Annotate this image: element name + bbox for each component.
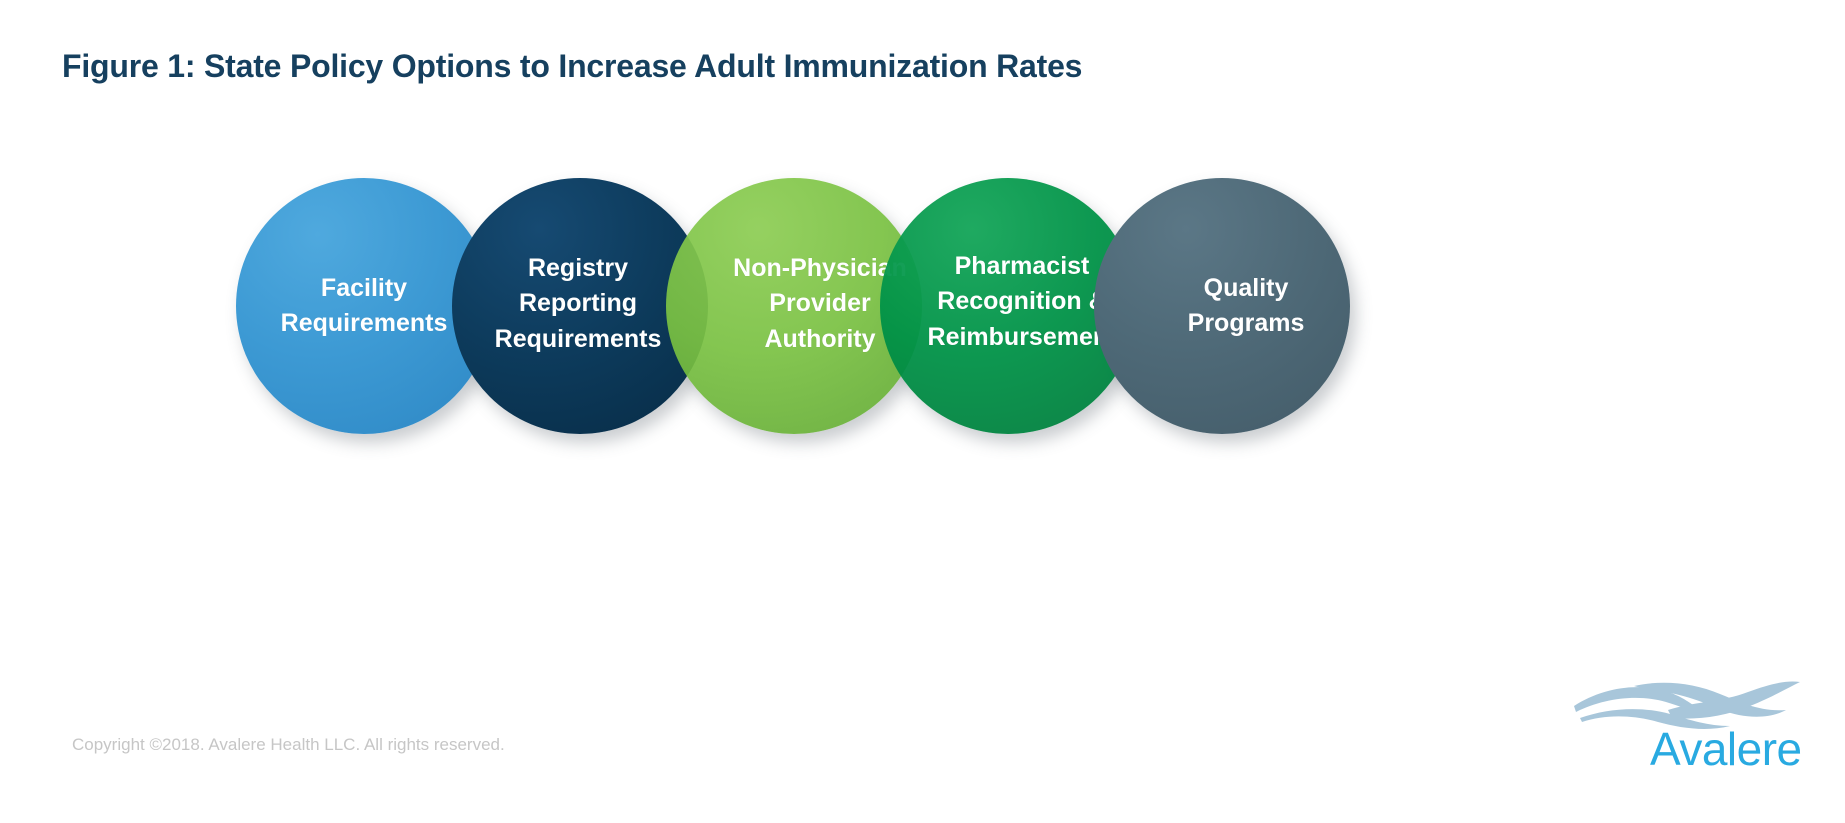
circle-label-line: Facility — [281, 271, 448, 307]
circle-quality-programs[interactable]: Quality Programs — [1094, 178, 1350, 434]
slide-canvas: Figure 1: State Policy Options to Increa… — [0, 0, 1845, 823]
circle-label-line: Pharmacist — [928, 249, 1117, 285]
circle-label-pharmacist-recognition-reimbursement: Pharmacist Recognition & Reimbursement — [928, 249, 1117, 356]
avalere-logo: Avalere — [1572, 676, 1802, 796]
circle-label-line: Registry — [495, 251, 662, 287]
circle-label-line: Recognition & — [928, 284, 1117, 320]
circle-label-registry-reporting-requirements: Registry Reporting Requirements — [495, 251, 662, 358]
circle-label-line: Reporting — [495, 286, 662, 322]
avalere-wordmark: Avalere — [1650, 726, 1802, 772]
circle-label-line: Requirements — [281, 306, 448, 342]
circle-label-quality-programs: Quality Programs — [1188, 271, 1305, 342]
circle-label-line: Programs — [1188, 306, 1305, 342]
circle-label-line: Non-Physician — [733, 251, 907, 287]
circle-label-line: Reimbursement — [928, 320, 1117, 356]
policy-options-diagram: Facility Requirements Registry Reporting… — [0, 0, 1845, 560]
copyright-text: Copyright ©2018. Avalere Health LLC. All… — [72, 735, 505, 755]
circle-label-line: Requirements — [495, 322, 662, 358]
circle-label-line: Quality — [1188, 271, 1305, 307]
circle-label-facility-requirements: Facility Requirements — [281, 271, 448, 342]
